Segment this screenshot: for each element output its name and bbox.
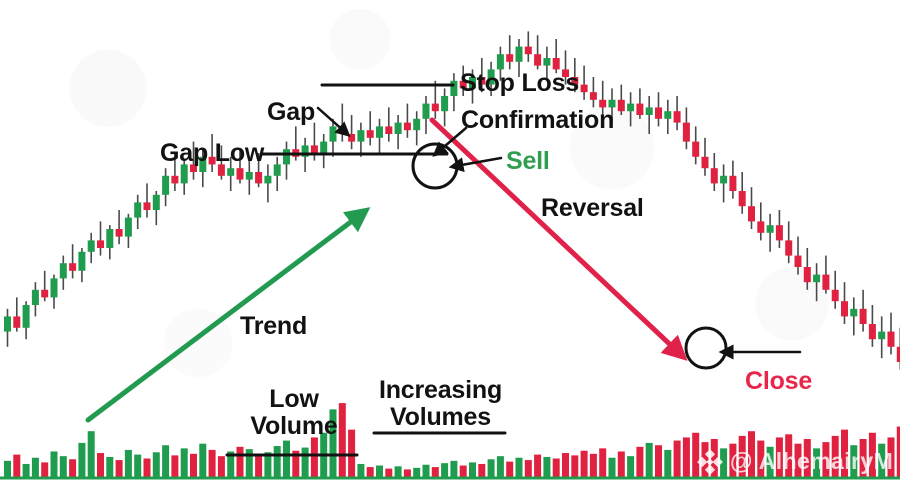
close-signal-circle (686, 328, 726, 368)
annotation-low-volume: Low Volume (238, 386, 350, 439)
volume-bar (581, 451, 588, 478)
volume-bar (376, 466, 383, 478)
annotation-gap: Gap (267, 99, 315, 126)
candle-body-bearish (776, 225, 783, 240)
reversal-arrow (432, 120, 678, 352)
candle-body-bearish (348, 134, 355, 142)
candle-body-bearish (795, 256, 802, 267)
volume-bar (23, 464, 30, 478)
volume-bar (460, 466, 467, 478)
candle-body-bullish (320, 142, 327, 153)
volume-bar (97, 453, 104, 478)
candle-body-bullish (423, 104, 430, 119)
volume-bar (255, 455, 262, 478)
volume-bar (78, 443, 85, 478)
volume-bar (423, 465, 430, 478)
candle-body-bearish (553, 58, 560, 69)
candle-body-bullish (878, 332, 885, 340)
volume-bar (869, 433, 876, 478)
volume-bar (813, 448, 820, 478)
volume-bar (776, 437, 783, 478)
volume-bar (283, 441, 290, 478)
candle-body-bullish (627, 104, 634, 112)
volume-bar (739, 436, 746, 478)
candle-body-bullish (767, 225, 774, 233)
candle-body-bearish (237, 168, 244, 179)
candle-body-bullish (227, 168, 234, 176)
volume-bar (692, 433, 699, 478)
candle-body-bearish (525, 47, 532, 55)
volume-bar (757, 441, 764, 478)
candle-body-bullish (125, 218, 132, 237)
candle-body-bullish (246, 172, 253, 180)
volume-bar (395, 466, 402, 478)
candle-body-bearish (116, 229, 123, 237)
volume-bar (674, 441, 681, 478)
candle-body-bullish (181, 164, 188, 183)
volume-bar (767, 447, 774, 478)
candle-body-bearish (860, 309, 867, 324)
annotation-stop-loss: Stop Loss (460, 70, 579, 97)
candle-body-bearish (506, 54, 513, 62)
candle-body-bearish (41, 290, 48, 298)
candle-body-bullish (850, 309, 857, 317)
candle-body-bearish (311, 145, 318, 153)
candle-body-bearish (404, 123, 411, 131)
volume-bar (599, 448, 606, 478)
annotation-gap-low: Gap Low (160, 140, 264, 167)
volume-bar (609, 458, 616, 478)
candle-body-bullish (51, 278, 58, 297)
volume-bar (162, 445, 169, 478)
candle-body-bearish (69, 263, 76, 271)
annotation-confirmation: Confirmation (461, 107, 614, 134)
candle-body-bearish (636, 104, 643, 115)
volume-bar (711, 439, 718, 478)
candle-body-bearish (655, 107, 662, 118)
volume-bar (190, 454, 197, 478)
candle-body-bearish (683, 123, 690, 142)
candle-body-bullish (646, 107, 653, 115)
candle-body-bullish (516, 47, 523, 62)
candle-body-bearish (804, 267, 811, 282)
volume-bar (888, 437, 895, 478)
volume-bar (153, 452, 160, 478)
volume-bar (367, 467, 374, 478)
volume-bar (785, 434, 792, 478)
candle-body-bullish (78, 252, 85, 271)
volume-bar (822, 442, 829, 478)
volume-bar (274, 446, 281, 478)
candle-body-bearish (739, 191, 746, 206)
candle-body-bearish (13, 316, 20, 327)
sell-signal-circle (413, 144, 457, 188)
volume-bar (181, 448, 188, 478)
volume-bar (413, 468, 420, 478)
volume-bar (636, 447, 643, 478)
annotation-reversal: Reversal (541, 195, 644, 222)
candle-body-bearish (581, 85, 588, 93)
volume-bar (488, 459, 495, 478)
volume-bar (655, 445, 662, 478)
candle-body-bearish (618, 100, 625, 111)
volume-bar (60, 456, 67, 478)
candle-body-bearish (144, 202, 151, 210)
volume-bar (218, 456, 225, 478)
volume-bar (116, 460, 123, 478)
candle-body-bearish (711, 168, 718, 183)
volume-bar (199, 444, 206, 478)
candle-body-bearish (729, 176, 736, 191)
volume-bar (144, 459, 151, 479)
volume-bar (683, 437, 690, 478)
candle-body-bullish (264, 176, 271, 184)
candle-body-bullish (376, 126, 383, 137)
candle-body-bullish (357, 130, 364, 141)
candle-body-bullish (274, 164, 281, 175)
volume-bar (69, 459, 76, 478)
candle-body-bearish (702, 157, 709, 168)
candle-body-bullish (32, 290, 39, 305)
volume-bar (450, 461, 457, 478)
volume-bar (534, 455, 541, 478)
volume-bar (720, 448, 727, 478)
annotation-sell: Sell (506, 148, 550, 175)
volume-bar (88, 431, 95, 478)
candle-body-bearish (785, 240, 792, 255)
candle-body-bullish (543, 58, 550, 66)
volume-bar (748, 431, 755, 478)
candle-body-bullish (283, 149, 290, 164)
candle-body-bearish (97, 240, 104, 248)
candle-body-bearish (171, 176, 178, 184)
volume-bar (878, 444, 885, 478)
volume-bar (41, 462, 48, 478)
volume-bar (171, 455, 178, 478)
volume-bar (832, 436, 839, 478)
candle-body-bearish (590, 92, 597, 100)
candle-body-bearish (832, 290, 839, 301)
candle-body-bullish (4, 316, 11, 331)
candle-body-bullish (330, 126, 337, 141)
volume-bar (841, 430, 848, 478)
candle-body-bullish (134, 202, 141, 217)
volume-bar (4, 461, 11, 478)
volume-bar (51, 451, 58, 478)
candle-body-bearish (757, 221, 764, 232)
volume-bar (32, 458, 39, 478)
candle-body-bullish (441, 96, 448, 111)
volume-bar (302, 448, 309, 478)
candle-body-bearish (385, 126, 392, 134)
volume-bar (627, 456, 634, 478)
annotation-close: Close (745, 368, 812, 395)
candle-body-bullish (413, 119, 420, 130)
candle-body-bullish (106, 229, 113, 248)
volume-bar (525, 460, 532, 478)
volume-bar (729, 444, 736, 478)
volume-bar (590, 454, 597, 478)
volume-bar (125, 450, 132, 478)
volume-bar (478, 464, 485, 478)
volume-bar (618, 451, 625, 478)
candle-body-bullish (720, 176, 727, 184)
candle-body-bearish (692, 142, 699, 157)
candle-body-bearish (674, 111, 681, 122)
candle-body-bullish (450, 81, 457, 96)
annotation-increasing-volumes: Increasing Volumes (368, 377, 513, 430)
volume-bar (106, 457, 113, 478)
candle-body-bearish (822, 275, 829, 290)
candle-body-bullish (497, 54, 504, 69)
candle-body-bearish (367, 130, 374, 138)
volume-bar (562, 453, 569, 478)
volume-bar (134, 455, 141, 478)
candle-body-bullish (60, 263, 67, 278)
volume-bar (646, 443, 653, 478)
candle-body-bullish (664, 111, 671, 119)
volume-bar (702, 442, 709, 478)
volume-bar (441, 463, 448, 478)
candle-body-bearish (748, 206, 755, 221)
volume-bar (795, 444, 802, 478)
volume-bar (469, 462, 476, 478)
volume-bar (311, 437, 318, 478)
candle-body-bullish (395, 123, 402, 134)
candle-body-bullish (162, 176, 169, 195)
annotation-trend: Trend (240, 313, 307, 340)
candle-body-bearish (841, 301, 848, 316)
volume-bar (209, 450, 216, 478)
volume-bar (497, 456, 504, 478)
volume-bar (553, 459, 560, 479)
volume-bar (432, 467, 439, 478)
candle-body-bearish (255, 172, 262, 183)
volume-bar (516, 458, 523, 478)
volume-bar (506, 462, 513, 478)
volume-bar (246, 449, 253, 478)
candle-body-bullish (813, 275, 820, 283)
candle-body-bearish (534, 54, 541, 65)
volume-bar (237, 447, 244, 478)
candle-body-bullish (23, 305, 30, 328)
volume-bar (13, 455, 20, 478)
volume-bar (357, 464, 364, 478)
volume-bar (543, 457, 550, 478)
candle-body-bullish (88, 240, 95, 251)
candle-body-bearish (869, 324, 876, 339)
volume-bar (571, 455, 578, 478)
volume-bar (804, 439, 811, 478)
volume-bar (850, 445, 857, 478)
volume-bar (860, 439, 867, 478)
candle-body-bearish (888, 332, 895, 347)
trading-chart-infographic: Stop LossGapConfirmationGap LowSellRever… (0, 0, 900, 490)
volume-bar (664, 450, 671, 478)
candle-body-bullish (153, 195, 160, 210)
candle-body-bearish (432, 104, 439, 112)
